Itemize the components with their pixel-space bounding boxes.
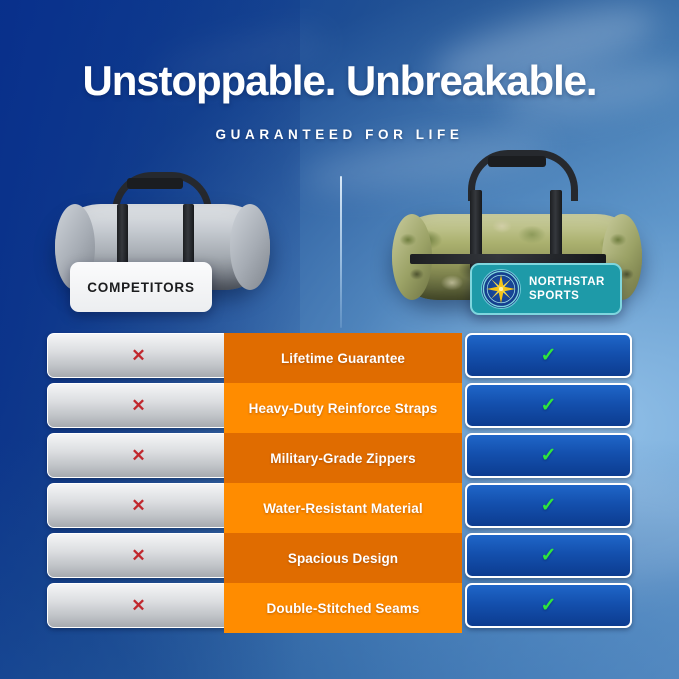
cross-icon: ✕ (131, 397, 145, 414)
brand-line-2: SPORTS (529, 290, 579, 302)
check-icon: ✓ (541, 396, 557, 415)
competitors-badge: COMPETITORS (70, 262, 212, 312)
bag-handle-grip (127, 178, 183, 189)
feature-label: Lifetime Guarantee (224, 333, 462, 383)
check-icon: ✓ (541, 446, 557, 465)
northstar-badge-label: NORTHSTAR SPORTS (529, 275, 605, 303)
check-icon: ✓ (541, 496, 557, 515)
duffel-end-cap (230, 204, 270, 290)
feature-label: Heavy-Duty Reinforce Straps (224, 383, 462, 433)
competitor-cell: ✕ (47, 383, 230, 428)
cross-icon: ✕ (131, 447, 145, 464)
cross-icon: ✕ (131, 597, 145, 614)
feature-label: Water-Resistant Material (224, 483, 462, 533)
check-icon: ✓ (541, 546, 557, 565)
vertical-divider (340, 176, 342, 328)
northstar-badge: NORTHSTAR SPORTS (470, 263, 622, 315)
brand-line-1: NORTHSTAR (529, 276, 605, 288)
competitors-badge-label: COMPETITORS (87, 280, 195, 295)
competitor-cell: ✕ (47, 433, 230, 478)
northstar-compass-logo-icon (481, 269, 521, 309)
feature-label: Spacious Design (224, 533, 462, 583)
competitor-cell: ✕ (47, 583, 230, 628)
page-title: Unstoppable. Unbreakable. (0, 57, 679, 105)
bag-handle-grip (488, 156, 546, 167)
check-icon: ✓ (541, 596, 557, 615)
infographic-canvas: Unstoppable. Unbreakable. GUARANTEED FOR… (0, 0, 679, 679)
check-icon: ✓ (541, 346, 557, 365)
competitor-cell: ✕ (47, 483, 230, 528)
feature-label: Military-Grade Zippers (224, 433, 462, 483)
cross-icon: ✕ (131, 547, 145, 564)
northstar-cell: ✓ (465, 483, 632, 528)
feature-label: Double-Stitched Seams (224, 583, 462, 633)
competitor-cell: ✕ (47, 333, 230, 378)
northstar-cell: ✓ (465, 383, 632, 428)
competitor-cell: ✕ (47, 533, 230, 578)
cross-icon: ✕ (131, 347, 145, 364)
northstar-cell: ✓ (465, 533, 632, 578)
feature-column: Lifetime GuaranteeHeavy-Duty Reinforce S… (224, 333, 462, 633)
page-subtitle: GUARANTEED FOR LIFE (0, 127, 679, 142)
cross-icon: ✕ (131, 497, 145, 514)
northstar-cell: ✓ (465, 333, 632, 378)
northstar-cell: ✓ (465, 583, 632, 628)
northstar-cell: ✓ (465, 433, 632, 478)
